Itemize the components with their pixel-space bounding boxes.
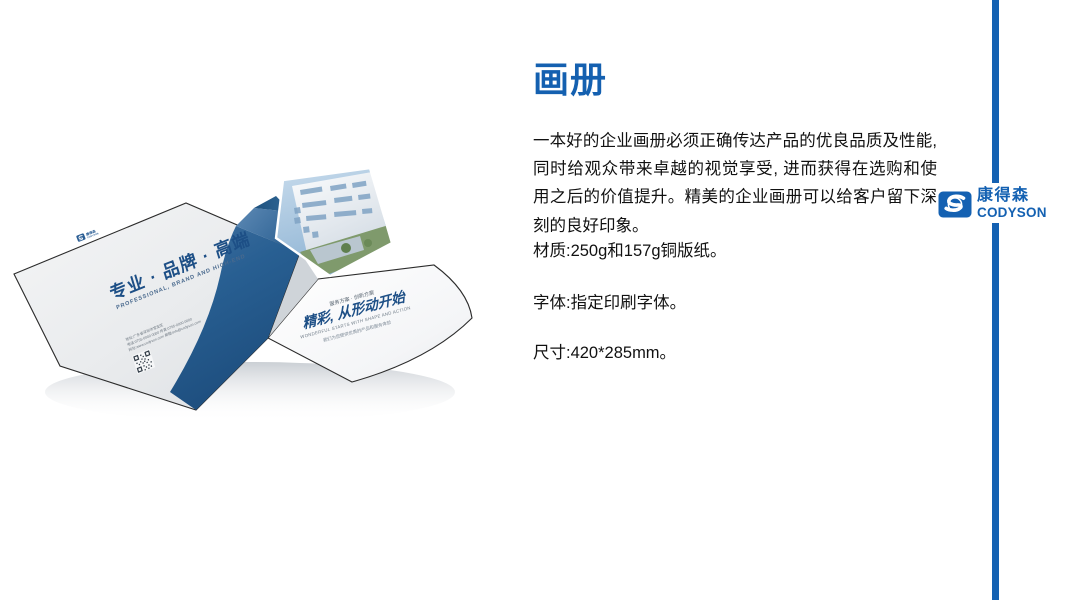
brand-wordmark: 康得森 CODYSON xyxy=(977,188,1047,220)
content-column: 画册 一本好的企业画册必须正确传达产品的优良品质及性能, 同时给观众带来卓越的视… xyxy=(533,0,933,600)
accent-bar-top xyxy=(992,0,999,183)
brand-name-en: CODYSON xyxy=(977,206,1047,220)
accent-bar-bottom xyxy=(992,223,999,600)
cover-logo-mark xyxy=(76,233,86,242)
photo-tree xyxy=(341,243,351,253)
photo-inset-content xyxy=(292,172,394,278)
brand-logo: 康得森 CODYSON xyxy=(938,183,1066,225)
page-title: 画册 xyxy=(533,62,607,98)
codyson-s-mark-icon xyxy=(938,191,972,218)
brochure-mockup-illustration: 服务方案 · 创新方案 精彩, 从形动开始 WONDERFUL STARTS W… xyxy=(0,0,520,600)
intro-paragraph: 一本好的企业画册必须正确传达产品的优良品质及性能, 同时给观众带来卓越的视觉享受… xyxy=(533,127,937,241)
spec-material: 材质:250g和157g铜版纸。 xyxy=(533,238,937,264)
spec-font: 字体:指定印刷字体。 xyxy=(533,290,937,316)
brand-name-cn: 康得森 xyxy=(977,188,1047,205)
right-rail: 康得森 CODYSON xyxy=(933,0,1066,600)
spec-size: 尺寸:420*285mm。 xyxy=(533,340,937,366)
brochure-mockup: 服务方案 · 创新方案 精彩, 从形动开始 WONDERFUL STARTS W… xyxy=(0,0,520,600)
photo-tree xyxy=(364,239,372,247)
